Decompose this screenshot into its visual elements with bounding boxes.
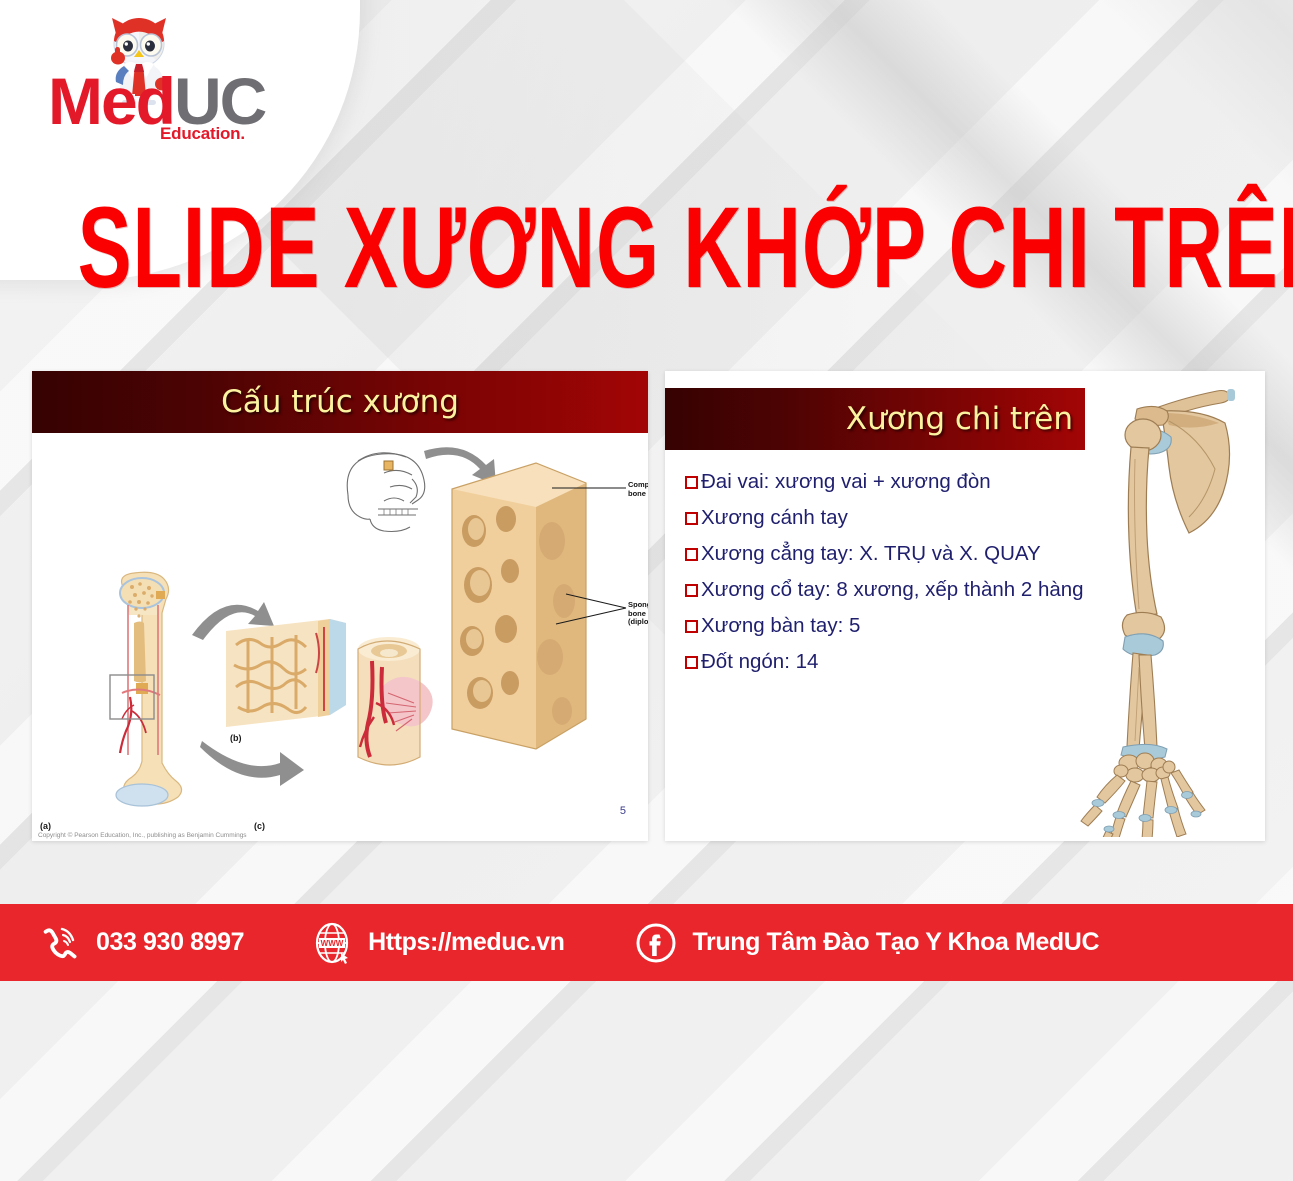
logo-tagline: Education. [160, 124, 245, 144]
page-title: SLIDE XƯƠNG KHỚP CHI TRÊN [78, 183, 1216, 314]
footer-facebook-label: Trung Tâm Đào Tạo Y Khoa MedUC [693, 928, 1100, 957]
long-bone-cross-section [94, 571, 204, 813]
callout-compact-bone: Compactbone [628, 481, 648, 498]
list-item-label: Xương cẳng tay: X. TRỤ và X. QUAY [701, 541, 1041, 566]
figure-label-c: (c) [254, 821, 265, 831]
slide-right-title: Xương chi trên [846, 401, 1073, 437]
facebook-icon [635, 922, 677, 964]
globe-www-icon: WWW [312, 922, 352, 964]
bullet-square-icon [685, 476, 698, 489]
list-item: Xương bàn tay: 5 [685, 613, 1085, 638]
footer-website[interactable]: WWW Https://meduc.vn [312, 922, 564, 964]
callout-spongy-bone: Spongybone(diploë) [628, 601, 648, 627]
slide-bone-structure[interactable]: Cấu trúc xương [32, 371, 648, 841]
list-item: Xương cẳng tay: X. TRỤ và X. QUAY [685, 541, 1085, 566]
bullet-square-icon [685, 620, 698, 633]
list-item-label: Xương bàn tay: 5 [701, 613, 860, 638]
upper-limb-skeleton-illustration [1065, 377, 1265, 837]
list-item: Xương cánh tay [685, 505, 1085, 530]
callout-leader-lines [552, 478, 648, 658]
logo-med-text: Med [48, 64, 174, 138]
list-item-label: Xương cổ tay: 8 xương, xếp thành 2 hàng [701, 577, 1084, 602]
contact-footer: 033 930 8997 WWW Https://meduc.vn Trung … [0, 904, 1293, 981]
slide-left-figure: Compactbone Spongybone(diploë) [32, 433, 648, 841]
list-item-label: Đốt ngón: 14 [701, 649, 818, 674]
slide-left-header: Cấu trúc xương [32, 371, 648, 433]
list-item: Đai vai: xương vai + xương đòn [685, 469, 1085, 494]
copyright-note: Copyright © Pearson Education, Inc., pub… [38, 832, 247, 839]
list-item-label: Đai vai: xương vai + xương đòn [701, 469, 991, 494]
figure-label-a: (a) [40, 821, 51, 831]
footer-website-label: Https://meduc.vn [368, 928, 564, 957]
footer-phone-label: 033 930 8997 [96, 928, 244, 957]
brand-logo: MedUC Education. [48, 12, 278, 142]
bullet-list: Đai vai: xương vai + xương đòn Xương cán… [685, 469, 1085, 685]
slide-left-title: Cấu trúc xương [221, 384, 459, 420]
slide-page-number: 5 [620, 805, 626, 817]
bullet-square-icon [685, 512, 698, 525]
bullet-square-icon [685, 656, 698, 669]
osteon-detail [338, 627, 464, 779]
bullet-square-icon [685, 548, 698, 561]
bullet-square-icon [685, 584, 698, 597]
footer-facebook[interactable]: Trung Tâm Đào Tạo Y Khoa MedUC [635, 922, 1100, 964]
list-item: Đốt ngón: 14 [685, 649, 1085, 674]
list-item-label: Xương cánh tay [701, 505, 848, 530]
slide-right-header: Xương chi trên [665, 388, 1085, 450]
svg-text:WWW: WWW [321, 939, 344, 948]
arrow-bone-to-osteon-icon [200, 733, 310, 791]
list-item: Xương cổ tay: 8 xương, xếp thành 2 hàng [685, 577, 1085, 602]
phone-icon [40, 923, 80, 963]
footer-phone[interactable]: 033 930 8997 [40, 923, 244, 963]
figure-label-b: (b) [230, 733, 242, 743]
slide-upper-limb-bones[interactable]: Xương chi trên Đai vai: xương vai + xươn… [665, 371, 1265, 841]
